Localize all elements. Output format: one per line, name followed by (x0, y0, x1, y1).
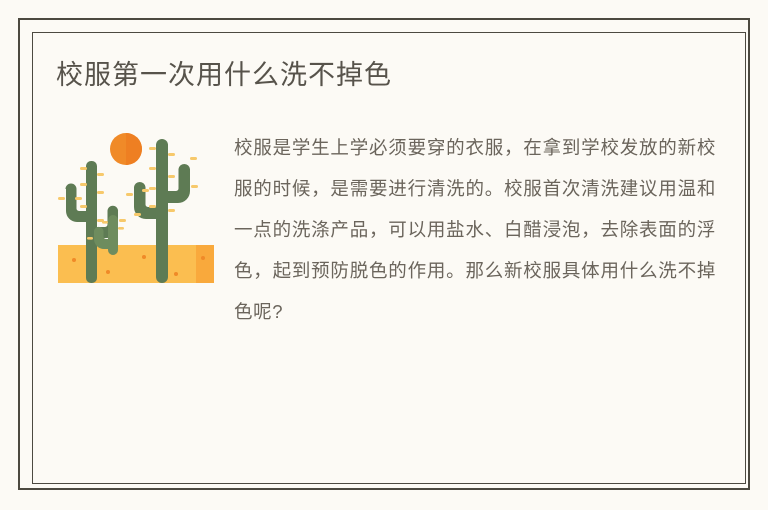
article-title: 校服第一次用什么洗不掉色 (56, 56, 716, 94)
article-body: 校服是学生上学必须要穿的衣服，在拿到学校发放的新校服的时候，是需要进行清洗的。校… (56, 127, 716, 377)
sand-ground (58, 245, 214, 283)
sun-icon (110, 133, 142, 165)
desert-cactus-illustration (56, 127, 216, 287)
article-container: 校服第一次用什么洗不掉色 (56, 56, 716, 466)
article-page: 校服第一次用什么洗不掉色 (0, 0, 768, 510)
